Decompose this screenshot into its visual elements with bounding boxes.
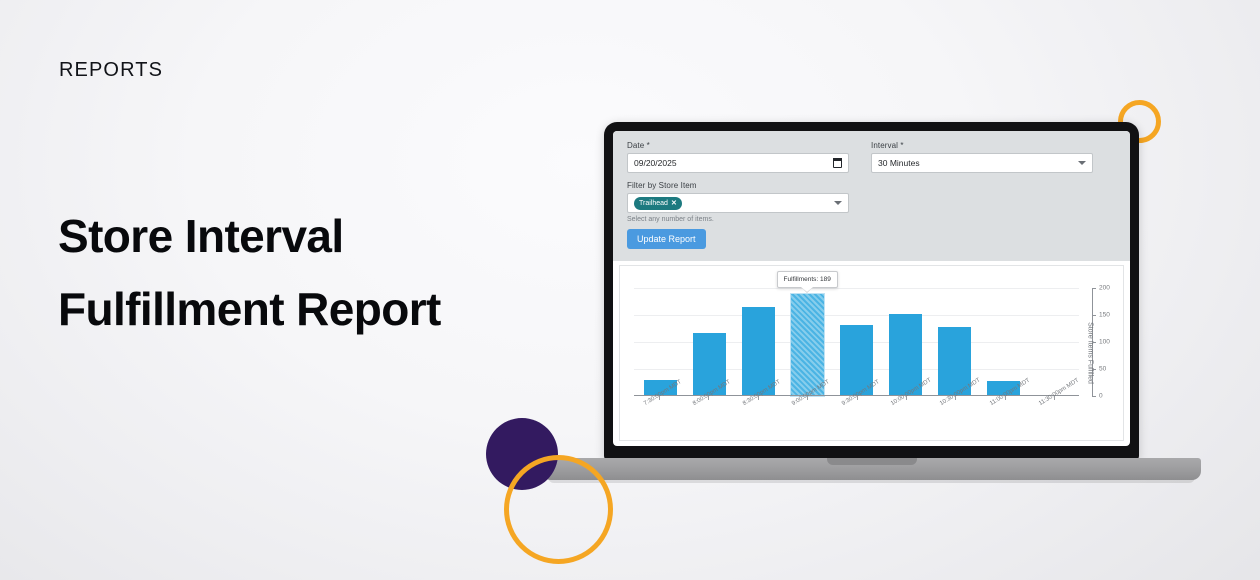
- update-report-button[interactable]: Update Report: [627, 229, 706, 249]
- chart-y-tick-label: 100: [1099, 339, 1110, 346]
- laptop-screen: Date * 09/20/2025 Filter by Store Item T…: [613, 131, 1130, 446]
- laptop-base: [542, 458, 1201, 480]
- chart-y-tick-label: 200: [1099, 285, 1110, 292]
- calendar-icon[interactable]: [833, 159, 842, 168]
- chart-bars: [634, 288, 1079, 396]
- date-input[interactable]: 09/20/2025: [627, 153, 849, 173]
- date-input-value: 09/20/2025: [634, 158, 677, 168]
- chart-y-tick: [1092, 315, 1096, 316]
- chart-bar-slot: [979, 288, 1028, 396]
- page-title: Store Interval Fulfillment Report: [58, 200, 478, 346]
- chart-bar-slot: [881, 288, 930, 396]
- page-root: REPORTS Store Interval Fulfillment Repor…: [0, 0, 1260, 580]
- chart-y-tick-label: 50: [1099, 366, 1106, 373]
- store-item-helper-text: Select any number of items.: [627, 216, 849, 223]
- interval-select[interactable]: 30 Minutes: [871, 153, 1093, 173]
- date-field-label: Date *: [627, 141, 849, 150]
- chart-y-tick-label: 0: [1099, 393, 1103, 400]
- interval-field-label: Interval *: [871, 141, 1093, 150]
- chart-y-tick: [1092, 288, 1096, 289]
- chart-tooltip: Fulfillments: 189: [777, 271, 838, 288]
- chart-y-axis-title: Store Items Fulfilled: [1087, 322, 1094, 384]
- report-filter-panel: Date * 09/20/2025 Filter by Store Item T…: [613, 131, 1130, 261]
- chart-bar[interactable]: [791, 294, 824, 396]
- date-field-group: Date * 09/20/2025 Filter by Store Item T…: [627, 141, 849, 249]
- chart-x-axis-labels: 7:30:00pm MDT8:00:00pm MDT8:30:00pm MDT9…: [634, 396, 1079, 440]
- chart-bar-slot: [832, 288, 881, 396]
- chevron-down-icon[interactable]: [1078, 161, 1086, 165]
- store-item-select[interactable]: Trailhead ✕: [627, 193, 849, 213]
- chart-y-tick: [1092, 396, 1096, 397]
- chart-bar-slot: [930, 288, 979, 396]
- decorative-orange-ring-bottom: [504, 455, 613, 564]
- report-app: Date * 09/20/2025 Filter by Store Item T…: [613, 131, 1130, 446]
- eyebrow-label: REPORTS: [59, 59, 163, 82]
- store-item-field-label: Filter by Store Item: [627, 181, 849, 190]
- store-item-chip[interactable]: Trailhead ✕: [634, 197, 682, 210]
- chip-remove-icon[interactable]: ✕: [671, 200, 677, 207]
- store-item-chip-label: Trailhead: [639, 200, 668, 207]
- chart-plot-area: [634, 288, 1079, 396]
- chart-bar[interactable]: [742, 307, 775, 396]
- chevron-down-icon[interactable]: [834, 201, 842, 205]
- interval-field-group: Interval * 30 Minutes: [871, 141, 1093, 249]
- chart-bar-slot: [1028, 288, 1077, 396]
- chart-card: 050100150200 Store Items Fulfilled 7:30:…: [619, 265, 1124, 441]
- laptop-mockup: Date * 09/20/2025 Filter by Store Item T…: [604, 122, 1139, 460]
- interval-select-value: 30 Minutes: [878, 158, 920, 168]
- laptop-lid: Date * 09/20/2025 Filter by Store Item T…: [604, 122, 1139, 460]
- chart-y-tick-label: 150: [1099, 312, 1110, 319]
